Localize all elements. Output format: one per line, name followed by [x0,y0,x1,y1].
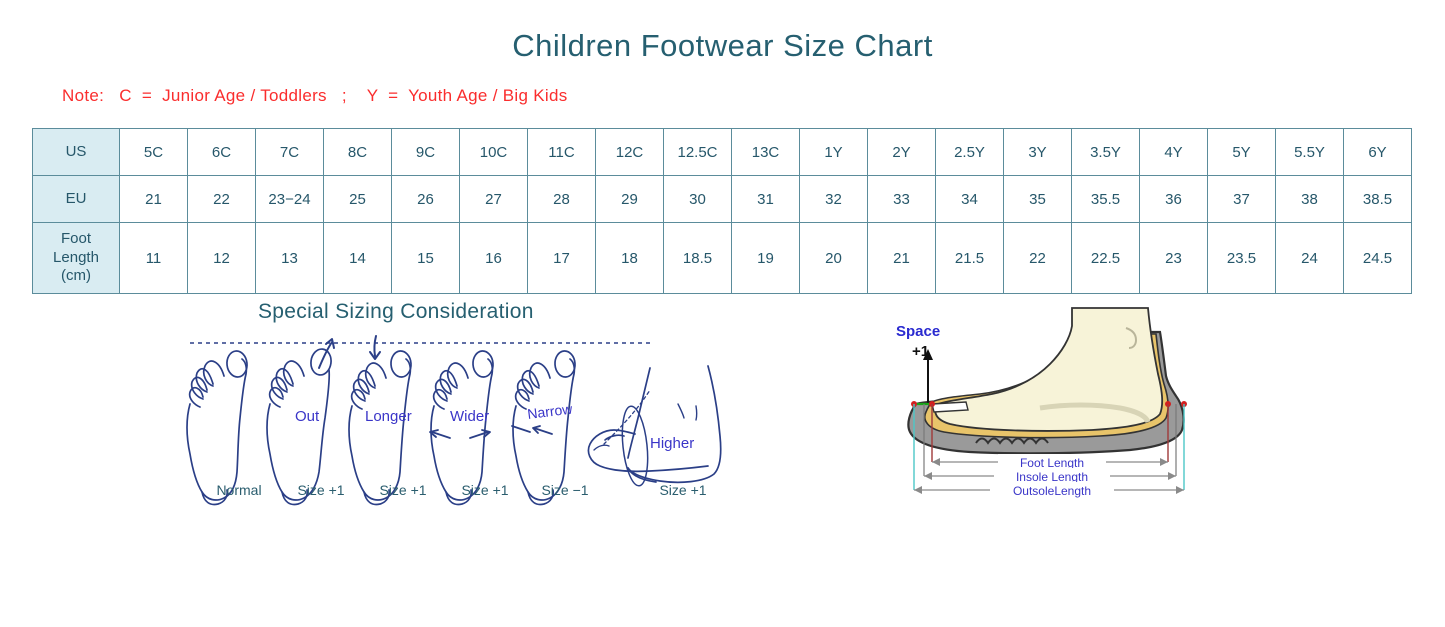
special-sizing-heading: Special Sizing Consideration [258,300,534,324]
label-space-plus-one: +1 [912,343,929,360]
foot-label-narrow: Narrow [526,400,574,421]
cell-eu-15: 36 [1140,176,1208,223]
table-row-eu: EU 21 22 23−24 25 26 27 28 29 30 31 32 3… [33,176,1412,223]
cell-us-2: 7C [256,129,324,176]
cell-eu-16: 37 [1208,176,1276,223]
caption-0: Normal [194,482,284,498]
cell-fl-15: 23 [1140,223,1208,294]
row-header-foot-length-line2: Length [33,249,119,268]
foot-label-longer: Longer [365,408,412,425]
cell-eu-1: 22 [188,176,256,223]
cell-fl-11: 21 [868,223,936,294]
illustrations-section: Special Sizing Consideration [0,294,1445,564]
feet-captions-row: Normal Size +1 Size +1 Size +1 Size −1 S… [180,482,760,506]
foot-shape [935,308,1162,431]
cell-eu-14: 35.5 [1072,176,1140,223]
cell-eu-5: 27 [460,176,528,223]
table-row-foot-length: Foot Length (cm) 11 12 13 14 15 16 17 18… [33,223,1412,294]
cell-fl-14: 22.5 [1072,223,1140,294]
foot-profile-higher [588,366,720,487]
cell-us-1: 6C [188,129,256,176]
cell-fl-4: 15 [392,223,460,294]
caption-2: Size +1 [358,482,448,498]
cell-eu-10: 32 [800,176,868,223]
label-space: Space [896,323,940,340]
cell-eu-0: 21 [120,176,188,223]
caption-1: Size +1 [276,482,366,498]
feet-illustrations: Out Longer Wider Narrow Higher [180,326,760,556]
cell-eu-17: 38 [1276,176,1344,223]
cell-us-17: 5.5Y [1276,129,1344,176]
caption-3: Size +1 [440,482,530,498]
cell-fl-3: 14 [324,223,392,294]
cell-us-0: 5C [120,129,188,176]
cell-us-10: 1Y [800,129,868,176]
cell-us-6: 11C [528,129,596,176]
cell-eu-2: 23−24 [256,176,324,223]
cell-us-18: 6Y [1344,129,1412,176]
cell-fl-10: 20 [800,223,868,294]
row-header-foot-length: Foot Length (cm) [33,223,120,294]
cell-us-7: 12C [596,129,664,176]
row-header-eu: EU [33,176,120,223]
cell-us-9: 13C [732,129,800,176]
cell-eu-3: 25 [324,176,392,223]
cell-us-5: 10C [460,129,528,176]
cell-eu-7: 29 [596,176,664,223]
row-header-us: US [33,129,120,176]
cell-eu-9: 31 [732,176,800,223]
cell-fl-17: 24 [1276,223,1344,294]
foot-label-wider: Wider [450,408,489,425]
cell-eu-6: 28 [528,176,596,223]
label-outsole-length: OutsoleLength [1013,484,1091,498]
cell-us-13: 3Y [1004,129,1072,176]
size-table-wrapper: US 5C 6C 7C 8C 9C 10C 11C 12C 12.5C 13C … [32,128,1413,294]
cell-us-15: 4Y [1140,129,1208,176]
label-insole-length: Insole Length [1016,470,1088,484]
cell-fl-0: 11 [120,223,188,294]
cell-eu-12: 34 [936,176,1004,223]
cell-eu-13: 35 [1004,176,1072,223]
cell-fl-5: 16 [460,223,528,294]
cell-fl-8: 18.5 [664,223,732,294]
cell-fl-7: 18 [596,223,664,294]
table-row-us: US 5C 6C 7C 8C 9C 10C 11C 12C 12.5C 13C … [33,129,1412,176]
cell-fl-13: 22 [1004,223,1072,294]
caption-4: Size −1 [520,482,610,498]
cell-us-14: 3.5Y [1072,129,1140,176]
cell-fl-1: 12 [188,223,256,294]
foot-label-out: Out [295,408,320,425]
shoe-cross-section-diagram: Foot Length Insole Length OutsoleLength … [880,304,1210,504]
cell-eu-4: 26 [392,176,460,223]
cell-eu-11: 33 [868,176,936,223]
size-chart-table: US 5C 6C 7C 8C 9C 10C 11C 12C 12.5C 13C … [32,128,1412,294]
cell-fl-12: 21.5 [936,223,1004,294]
caption-5: Size +1 [638,482,728,498]
cell-us-16: 5Y [1208,129,1276,176]
cell-us-8: 12.5C [664,129,732,176]
note-text: Note: C = Junior Age / Toddlers ; Y = Yo… [62,86,1445,106]
page-title: Children Footwear Size Chart [0,0,1445,64]
foot-label-higher: Higher [650,435,694,452]
cell-fl-2: 13 [256,223,324,294]
row-header-foot-length-line3: (cm) [33,267,119,286]
cell-fl-9: 19 [732,223,800,294]
cell-eu-18: 38.5 [1344,176,1412,223]
cell-fl-18: 24.5 [1344,223,1412,294]
toe-box-space [932,402,968,412]
cell-us-3: 8C [324,129,392,176]
cell-fl-16: 23.5 [1208,223,1276,294]
cell-eu-8: 30 [664,176,732,223]
cell-us-12: 2.5Y [936,129,1004,176]
row-header-foot-length-line1: Foot [33,230,119,249]
cell-us-11: 2Y [868,129,936,176]
cell-us-4: 9C [392,129,460,176]
cell-fl-6: 17 [528,223,596,294]
label-foot-length: Foot Length [1020,456,1084,470]
